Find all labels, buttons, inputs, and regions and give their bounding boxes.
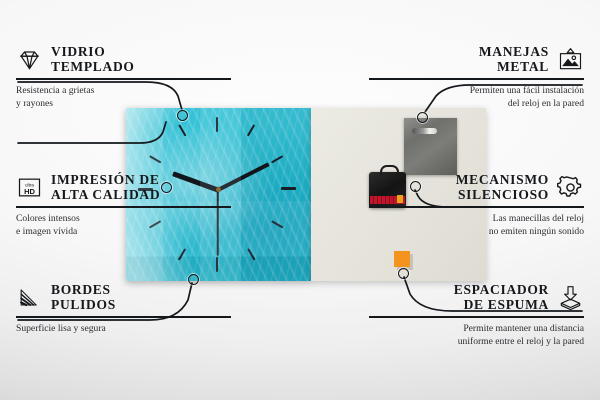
clock-tick bbox=[247, 248, 256, 260]
feature-desc-line1: Permite mantener una distancia bbox=[369, 323, 584, 336]
feature-title-line1: IMPRESIÓN DE bbox=[51, 172, 160, 187]
feature-title-line2: TEMPLADO bbox=[51, 59, 135, 74]
feature-titles: MECANISMO SILENCIOSO bbox=[456, 172, 549, 202]
clock-tick bbox=[178, 124, 187, 136]
feature-desc-line1: Las manecillas del reloj bbox=[369, 213, 584, 226]
clock-tick bbox=[247, 124, 256, 136]
feature-titles: MANEJAS METAL bbox=[479, 44, 549, 74]
callout-dot-vidrio-templado[interactable] bbox=[177, 110, 188, 121]
feature-description: Permite mantener una distancia uniforme … bbox=[369, 323, 584, 349]
feature-divider bbox=[369, 78, 584, 80]
metal-hanger-plate bbox=[404, 118, 457, 175]
feature-heading: MANEJAS METAL bbox=[369, 44, 584, 74]
feature-bordes-pulidos: BORDES PULIDOS Superficie lisa y segura bbox=[16, 282, 231, 336]
polished-edges-icon bbox=[16, 285, 43, 310]
feature-manejas-metal: MANEJAS METAL Permiten una fácil instala… bbox=[369, 44, 584, 111]
feature-description: Colores intensos e imagen vívida bbox=[16, 213, 231, 239]
feature-titles: BORDES PULIDOS bbox=[51, 282, 116, 312]
infographic-stage: VIDRIO TEMPLADO Resistencia a grietas y … bbox=[0, 0, 600, 400]
clock-tick bbox=[271, 155, 283, 164]
feature-description: Las manecillas del reloj no emiten ningú… bbox=[369, 213, 584, 239]
callout-dot-manejas-metal[interactable] bbox=[417, 112, 428, 123]
picture-hanger-icon bbox=[557, 47, 584, 72]
feature-titles: VIDRIO TEMPLADO bbox=[51, 44, 135, 74]
feature-divider bbox=[16, 78, 231, 80]
feature-titles: ESPACIADOR DE ESPUMA bbox=[454, 282, 549, 312]
clock-tick bbox=[149, 155, 161, 164]
feature-title-line2: SILENCIOSO bbox=[456, 187, 549, 202]
gear-icon bbox=[557, 175, 584, 200]
clock-tick bbox=[216, 257, 218, 272]
clock-tick bbox=[271, 220, 283, 229]
feature-description: Resistencia a grietas y rayones bbox=[16, 85, 231, 111]
feature-titles: IMPRESIÓN DE ALTA CALIDAD bbox=[51, 172, 160, 202]
feature-title-line1: ESPACIADOR bbox=[454, 282, 549, 297]
feature-desc-line2: no emiten ningún sonido bbox=[369, 226, 584, 239]
feature-description: Superficie lisa y segura bbox=[16, 323, 231, 336]
feature-title-line1: VIDRIO bbox=[51, 44, 135, 59]
clock-tick bbox=[281, 187, 296, 190]
feature-description: Permiten una fácil instalación del reloj… bbox=[369, 85, 584, 111]
feature-desc-line1: Colores intensos bbox=[16, 213, 231, 226]
feature-mecanismo-silencioso: MECANISMO SILENCIOSO Las manecillas del … bbox=[369, 172, 584, 239]
feature-espaciador-espuma: ESPACIADOR DE ESPUMA Permite mantener un… bbox=[369, 282, 584, 349]
feature-heading: ESPACIADOR DE ESPUMA bbox=[369, 282, 584, 312]
diamond-icon bbox=[16, 47, 43, 72]
feature-heading: VIDRIO TEMPLADO bbox=[16, 44, 231, 74]
feature-desc-line1: Superficie lisa y segura bbox=[16, 323, 231, 336]
callout-dot-espaciador[interactable] bbox=[398, 268, 409, 279]
feature-divider bbox=[369, 206, 584, 208]
svg-text:HD: HD bbox=[24, 186, 35, 195]
feature-title-line2: METAL bbox=[479, 59, 549, 74]
hanger-slot bbox=[412, 128, 437, 134]
clock-tick bbox=[216, 117, 218, 132]
feature-divider bbox=[369, 316, 584, 318]
clock-tick bbox=[178, 248, 187, 260]
feature-heading: ultra HD IMPRESIÓN DE ALTA CALIDAD bbox=[16, 172, 231, 202]
feature-title-line2: PULIDOS bbox=[51, 297, 116, 312]
feature-desc-line2: e imagen vívida bbox=[16, 226, 231, 239]
foam-spacer-icon bbox=[557, 285, 584, 310]
feature-title-line2: DE ESPUMA bbox=[454, 297, 549, 312]
feature-heading: BORDES PULIDOS bbox=[16, 282, 231, 312]
feature-desc-line1: Permiten una fácil instalación bbox=[369, 85, 584, 98]
feature-divider bbox=[16, 206, 231, 208]
foam-spacer-pad bbox=[394, 251, 410, 267]
feature-title-line1: BORDES bbox=[51, 282, 116, 297]
ultra-hd-icon: ultra HD bbox=[16, 175, 43, 200]
feature-desc-line2: uniforme entre el reloj y la pared bbox=[369, 336, 584, 349]
feature-title-line1: MECANISMO bbox=[456, 172, 549, 187]
feature-desc-line2: y rayones bbox=[16, 98, 231, 111]
feature-divider bbox=[16, 316, 231, 318]
feature-title-line1: MANEJAS bbox=[479, 44, 549, 59]
feature-desc-line2: del reloj en la pared bbox=[369, 98, 584, 111]
feature-heading: MECANISMO SILENCIOSO bbox=[369, 172, 584, 202]
feature-title-line2: ALTA CALIDAD bbox=[51, 187, 160, 202]
feature-desc-line1: Resistencia a grietas bbox=[16, 85, 231, 98]
feature-vidrio-templado: VIDRIO TEMPLADO Resistencia a grietas y … bbox=[16, 44, 231, 111]
feature-impresion-alta-calidad: ultra HD IMPRESIÓN DE ALTA CALIDAD Color… bbox=[16, 172, 231, 239]
